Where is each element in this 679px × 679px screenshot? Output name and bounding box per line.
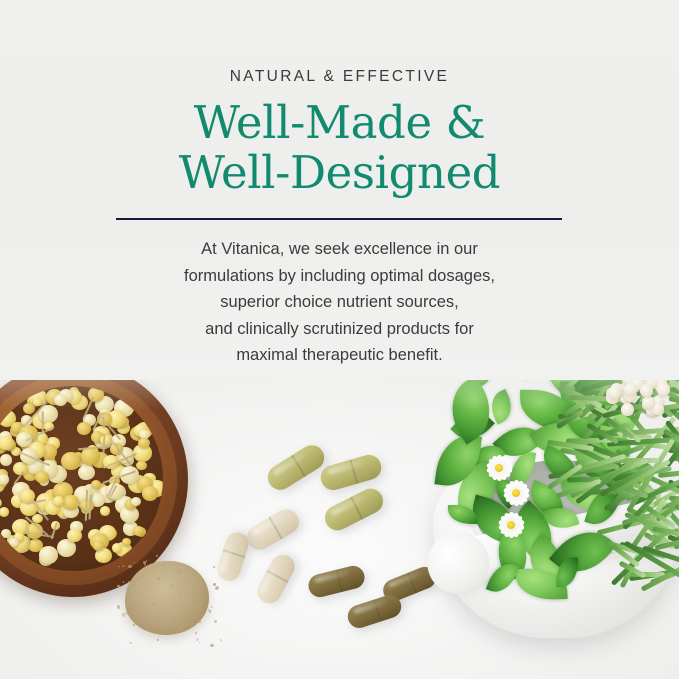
chamomile-flower [0,474,9,484]
powder-grain [214,620,217,623]
brown-capsule [306,563,367,599]
powder-grain [211,606,213,608]
powder-grain [118,566,120,568]
headline-line-1: Well-Made & [194,96,486,149]
chamomile-flower [33,398,42,406]
powder-grain [220,639,222,641]
chamomile-flower [112,543,122,552]
chamomile-flower [78,465,95,480]
chamomile-flower [142,486,158,501]
powder-grain [210,644,213,647]
body-paragraph: At Vitanica, we seek excellence in our f… [0,236,679,369]
olive-capsule [321,484,388,534]
chamomile-flower [1,529,10,538]
cluster-floret [642,396,655,409]
cluster-floret [640,384,653,397]
powder-grain [198,604,201,607]
chamomile-flower [53,496,64,506]
chamomile-flower [61,452,81,470]
powder-grain [196,587,198,589]
daisy-center [512,489,520,497]
headline-line-2: Well-Designed [0,148,679,198]
powder-grain [193,616,194,617]
cluster-floret [657,383,670,396]
powder-grain [122,565,124,567]
chamomile-flower [136,461,146,471]
capsule-highlight [259,563,279,594]
powder-grain [190,623,192,625]
chamomile-flower [9,538,18,547]
promo-banner: NATURAL & EFFECTIVE Well-Made & Well-Des… [0,0,679,679]
body-line-1: At Vitanica, we seek excellence in our [0,236,679,263]
cluster-floret [608,386,621,399]
powder-grain [209,610,211,612]
powder-grain [213,583,215,585]
powder-grain [195,611,197,613]
olive-capsule [318,452,384,493]
powder-grain [195,591,197,593]
eyebrow-label: NATURAL & EFFECTIVE [0,68,679,86]
powder-grain [191,572,192,573]
chamomile-flower [0,507,9,517]
chamomile-flower [77,422,91,435]
powder-grain [160,613,163,616]
powder-grain [128,581,130,583]
daisy-flower [498,512,524,538]
chamomile-flower [138,438,150,449]
chamomile-flower [131,497,141,506]
powder-grain [128,565,131,568]
powder-grain [122,613,126,617]
powder-grain [192,591,195,594]
powder-grain [133,562,135,564]
powder-grain [172,585,174,587]
cream-capsule [214,529,251,584]
powder-grain [213,566,215,568]
capsule-highlight [327,459,365,475]
page-title: Well-Made & Well-Designed [0,98,679,198]
powder-grain [196,638,199,641]
powder-grain [192,579,194,581]
powder-grain [123,581,124,582]
herb-powder-pile [115,555,223,647]
powder-grain [168,621,172,625]
powder-grain [117,605,120,608]
powder-grain [157,639,159,641]
body-line-4: and clinically scrutinized products for [0,316,679,343]
horizontal-rule [116,218,562,220]
daisy-center [507,521,515,529]
brown-capsule [345,592,404,631]
powder-grain [146,560,148,562]
powder-grain [198,620,201,623]
cream-capsule [243,505,304,555]
powder-grain [198,590,201,593]
daisy-center [495,464,503,472]
capsule-highlight [219,541,233,572]
capsule-highlight [330,494,367,516]
chamomile-flower [0,454,12,465]
chamomile-flower [67,529,82,543]
cluster-floret [621,403,634,416]
powder-grain [177,570,180,573]
powder-grain [199,642,200,643]
olive-capsule [263,440,329,494]
powder-grain [129,642,132,645]
powder-grain [133,580,136,583]
chamomile-flower [39,546,58,564]
body-line-5: maximal therapeutic benefit. [0,342,679,369]
powder-grain [216,586,220,590]
powder-grain [199,601,202,604]
powder-grain [152,602,155,605]
powder-grain [176,622,179,625]
daisy-flower [486,455,512,481]
text-panel: NATURAL & EFFECTIVE Well-Made & Well-Des… [0,0,679,380]
chamomile-flower [54,394,67,406]
capsule-highlight [353,599,387,614]
capsule-highlight [314,569,349,582]
powder-grain [117,585,120,588]
chamomile-flower [93,541,104,551]
capsule-highlight [388,571,421,588]
chamomile-flower [133,526,143,536]
body-line-3: superior choice nutrient sources, [0,289,679,316]
powder-grain [195,617,197,619]
chamomile-flower [100,506,111,516]
powder-grain [195,632,197,634]
body-line-2: formulations by including optimal dosage… [0,263,679,290]
powder-grain [157,577,160,580]
chamomile-flower [35,471,48,483]
powder-grain [156,555,158,557]
daisy-flower [503,480,529,506]
cluster-floret [624,383,637,396]
powder-grain [176,630,179,633]
powder-grain [133,624,135,626]
cream-capsule [253,550,299,607]
